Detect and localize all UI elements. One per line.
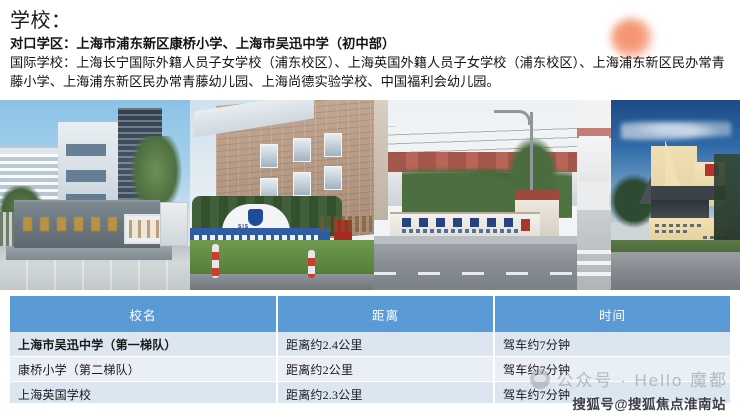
traffic-post: [308, 250, 315, 278]
window: [293, 138, 311, 162]
sign-chinese-name: [402, 218, 520, 227]
tree-right: [714, 154, 740, 244]
curb: [374, 236, 577, 244]
cell-distance: 距离约2公里: [277, 357, 494, 382]
window: [324, 133, 342, 157]
cell-school-name: 上海市吴迅中学（第一梯队）: [10, 332, 277, 357]
table-row: 上海市吴迅中学（第一梯队） 距离约2.4公里 驾车约7分钟: [10, 332, 730, 357]
cloud: [621, 118, 731, 140]
slide-root: SIS: [0, 0, 740, 417]
bottom-white-strip: [0, 403, 740, 417]
left-wall: [374, 100, 388, 220]
column-header-distance: 距离: [277, 296, 494, 332]
school-distance-table-wrapper: 校名 距离 时间 上海市吴迅中学（第一梯队） 距离约2.4公里 驾车约7分钟 康…: [10, 296, 730, 407]
column-header-time: 时间: [494, 296, 730, 332]
page-title: 学校：: [10, 8, 734, 34]
window: [260, 144, 278, 168]
photo-sis-brick-school: SIS: [190, 100, 374, 290]
glass-windows: [651, 200, 709, 218]
yellow-wall-text: [320, 216, 372, 232]
cell-school-name: 康桥小学（第二梯队）: [10, 357, 277, 382]
wall-sign-line: [655, 224, 701, 227]
photo-british-international-school: [577, 100, 740, 290]
photo-school-gate-stone-monument: [0, 100, 190, 290]
international-school-line: 国际学校：上海长宁国际外籍人员子女学校（浦东校区）、上海英国外籍人员子女学校（浦…: [10, 54, 734, 91]
photo-wuxun-middle-school: [374, 100, 577, 290]
table-header-row: 校名 距离 时间: [10, 296, 730, 332]
cell-distance: 距离约2.4公里: [277, 332, 494, 357]
window: [293, 172, 311, 196]
road: [611, 252, 740, 290]
sign-pinyin-name: [402, 229, 518, 233]
school-distance-table: 校名 距离 时间 上海市吴迅中学（第一梯队） 距离约2.4公里 驾车约7分钟 康…: [10, 296, 730, 407]
traffic-post: [212, 244, 219, 278]
cell-time: 驾车约7分钟: [494, 357, 730, 382]
heading-text-block: 学校： 对口学区：上海市浦东新区康桥小学、上海市吴迅中学（初中部） 国际学校：上…: [0, 0, 740, 91]
photo-overlap-shade: [577, 100, 611, 290]
wall-sign-line: [655, 230, 689, 233]
zoned-school-line: 对口学区：上海市浦东新区康桥小学、上海市吴迅中学（初中部）: [10, 35, 734, 53]
road: [374, 244, 577, 290]
guard-booth: [160, 202, 188, 246]
street-lamp-arm: [494, 110, 531, 125]
column-header-name: 校名: [10, 296, 277, 332]
window: [324, 166, 342, 190]
photo-strip: SIS: [0, 100, 740, 290]
sign-seal-icon: [521, 219, 530, 231]
table-row: 康桥小学（第二梯队） 距离约2公里 驾车约7分钟: [10, 357, 730, 382]
monument-plinth: [6, 246, 172, 260]
cell-time: 驾车约7分钟: [494, 332, 730, 357]
school-name-sign-wall: [390, 212, 540, 238]
lane-marking: [374, 272, 577, 275]
